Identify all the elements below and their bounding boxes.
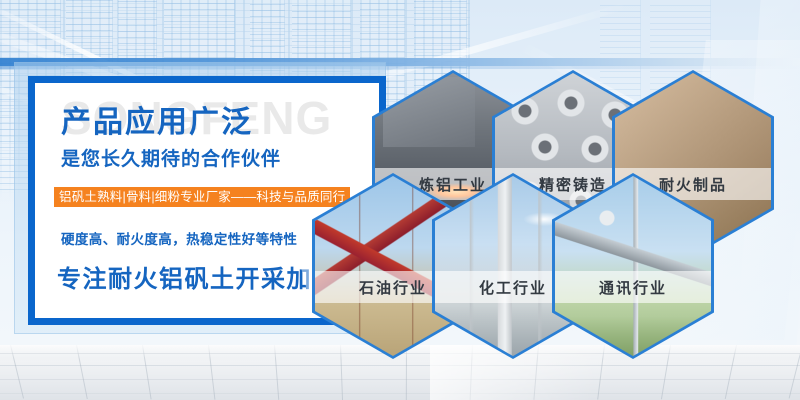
hexagon-label-telecom-industry: 通讯行业 (555, 271, 711, 303)
product-application-banner: SONGFENG 产品应用广泛 是您长久期待的合作伙伴 铝矾土熟料|骨料|细粉专… (0, 0, 800, 400)
industry-hexagon-grid: 炼铝工业精密铸造耐火制品石油行业化工行业通讯行业 (0, 0, 800, 400)
